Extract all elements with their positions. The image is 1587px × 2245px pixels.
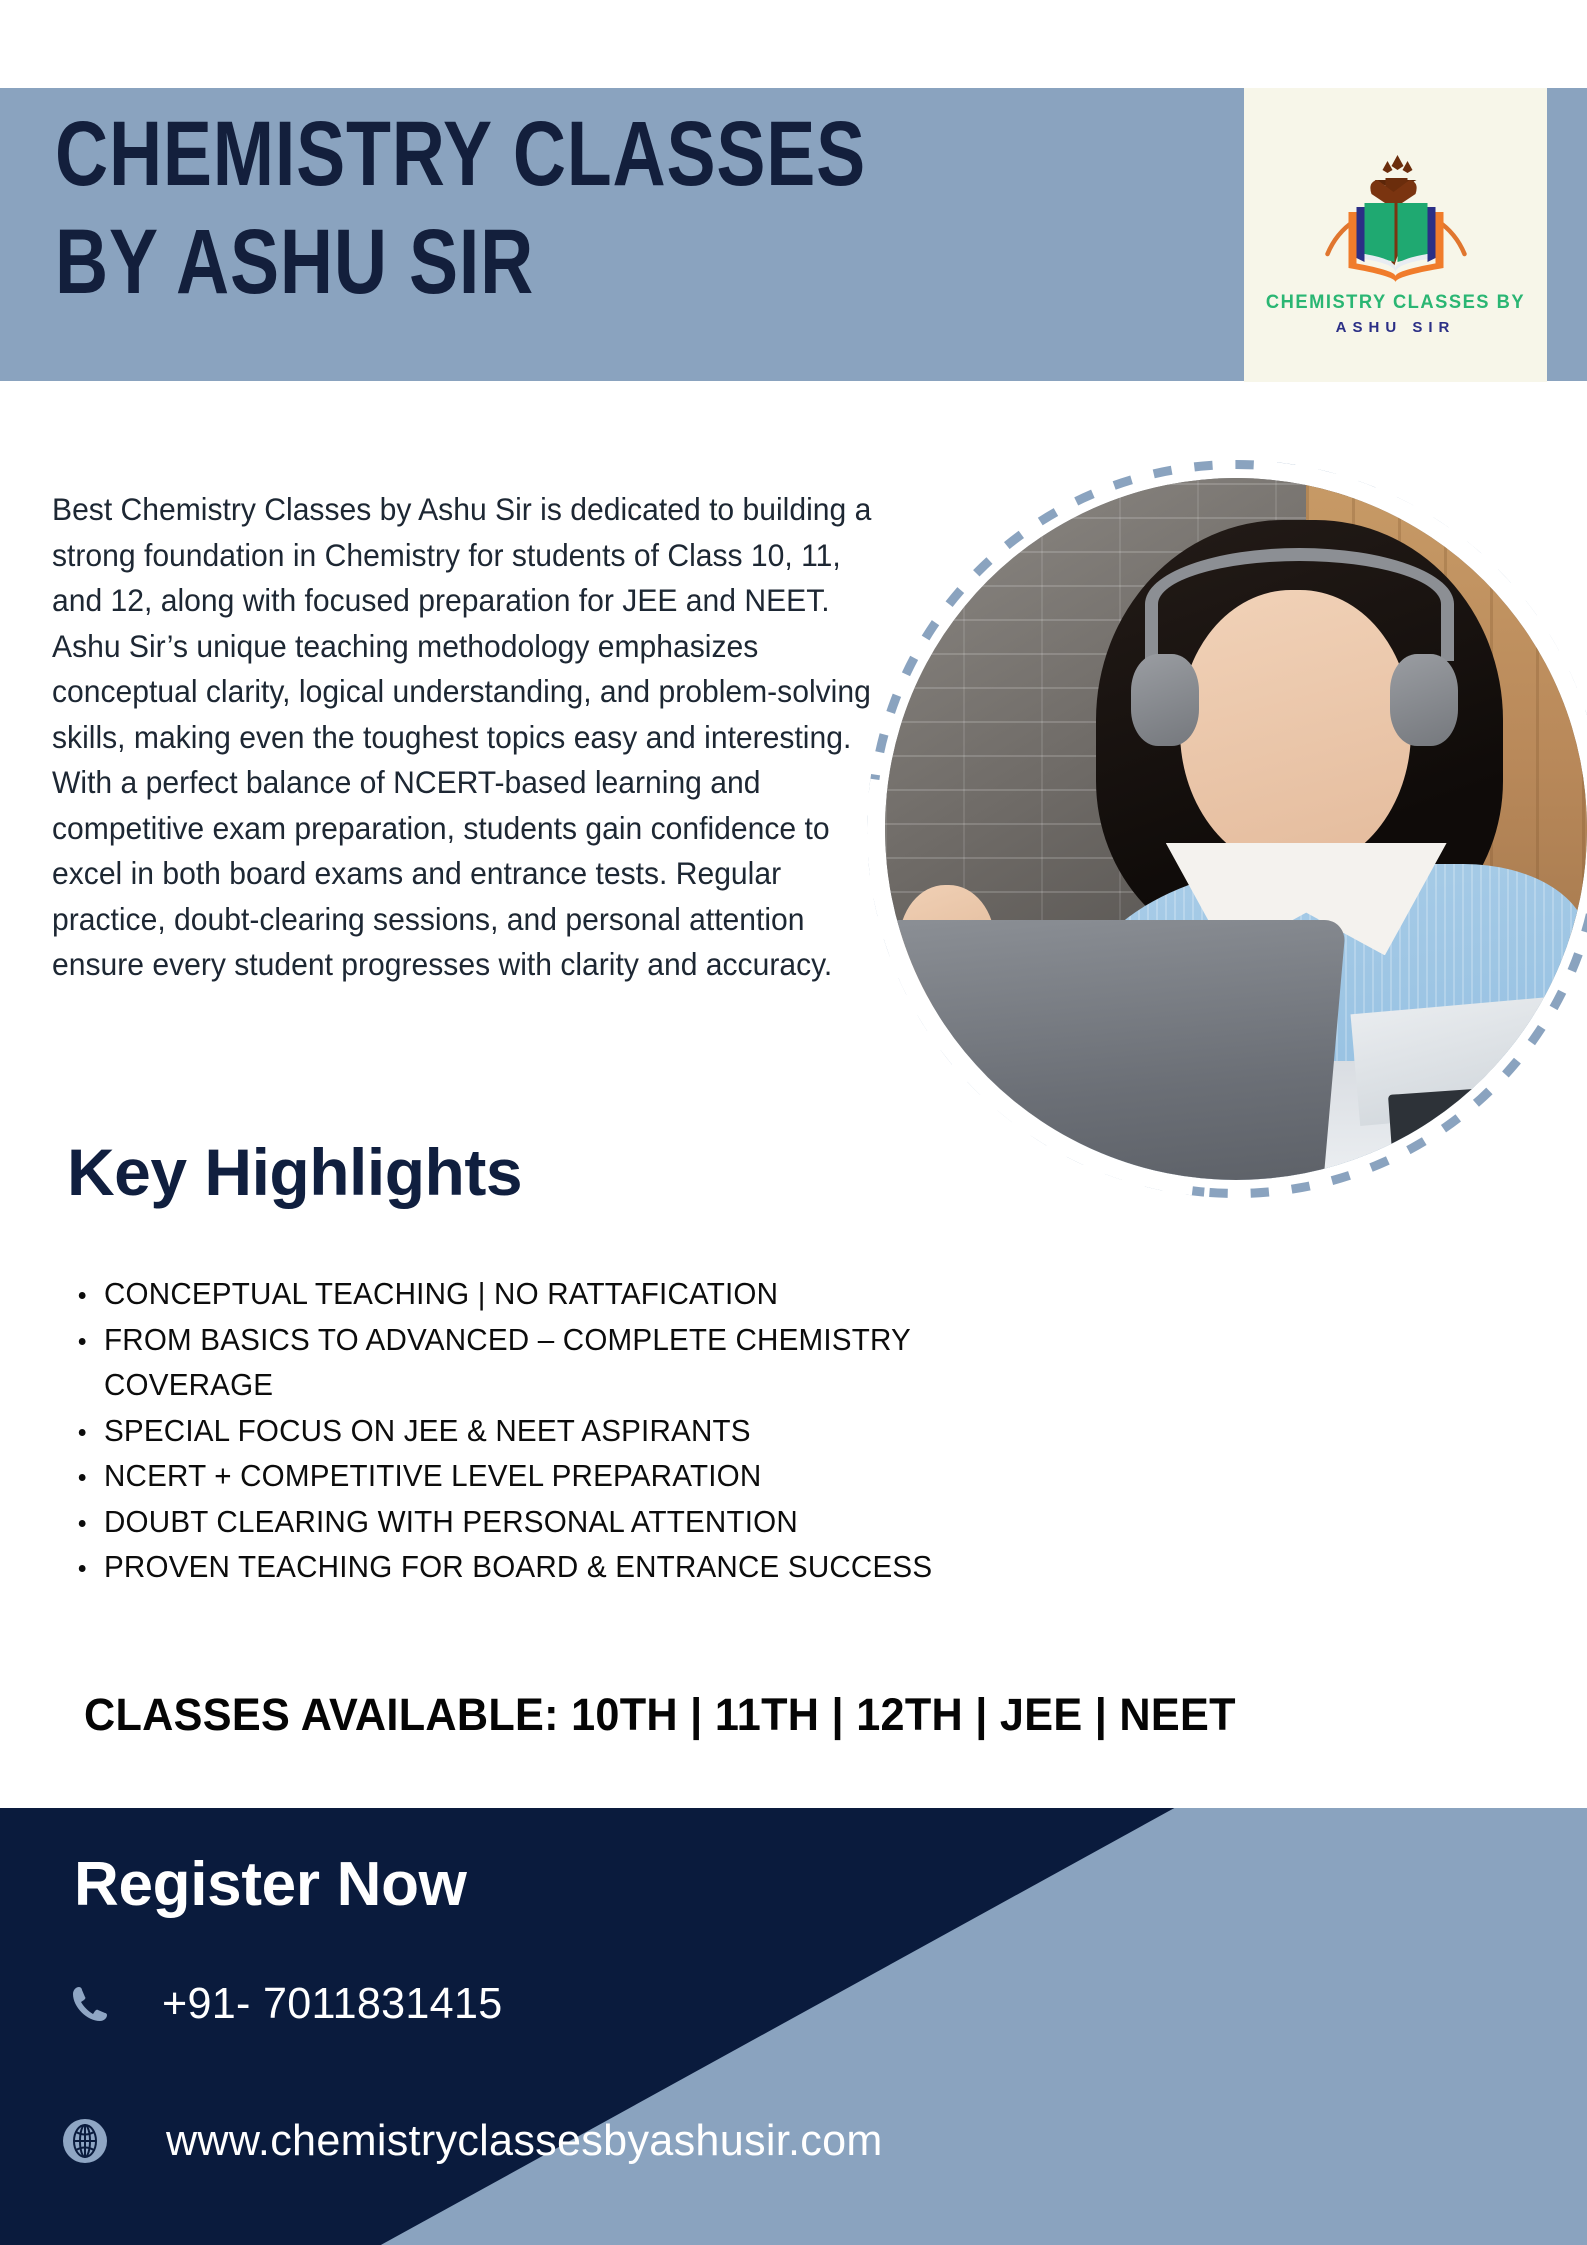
key-highlights-list: CONCEPTUAL TEACHING | NO RATTAFICATION F… [62,1272,1004,1591]
photo-laptop [885,920,1347,1180]
classes-available-line: CLASSES AVAILABLE: 10TH | 11TH | 12TH | … [84,1689,1236,1741]
brand-logo-card: CHEMISTRY CLASSES BY ASHU SIR [1244,88,1547,382]
list-item: FROM BASICS TO ADVANCED – COMPLETE CHEMI… [104,1318,977,1409]
list-item: DOUBT CLEARING WITH PERSONAL ATTENTION [104,1500,977,1546]
logo-caption: CHEMISTRY CLASSES BY [1253,291,1538,314]
poster-canvas: CHEMISTRY CLASSES BY ASHU SIR [0,0,1587,2245]
register-now-heading: Register Now [74,1848,467,1922]
student-photo [885,478,1587,1180]
photo-tablet [1388,1083,1560,1158]
key-highlights-heading: Key Highlights [67,1136,522,1208]
photo-headphone-cup-left [1131,654,1199,746]
globe-icon [56,2112,114,2170]
website-url: www.chemistryclassesbyashusir.com [166,2114,883,2168]
graduation-book-logo-icon [1303,136,1488,286]
phone-number: +91- 7011831415 [162,1977,503,2031]
photo-headphone-band [1145,548,1454,660]
title-line-1: CHEMISTRY CLASSES [55,100,935,208]
logo-subcaption: ASHU SIR [1244,319,1547,336]
list-item: NCERT + COMPETITIVE LEVEL PREPARATION [104,1454,977,1500]
website-contact-row[interactable]: www.chemistryclassesbyashusir.com [56,2112,897,2170]
phone-contact-row[interactable]: +91- 7011831415 [62,1975,509,2033]
title-line-2: BY ASHU SIR [55,208,935,316]
photo-headphone-cup-right [1390,654,1458,746]
list-item: SPECIAL FOCUS ON JEE & NEET ASPIRANTS [104,1409,977,1455]
list-item: CONCEPTUAL TEACHING | NO RATTAFICATION [104,1272,977,1318]
intro-paragraph: Best Chemistry Classes by Ashu Sir is de… [52,487,875,988]
phone-icon [62,1975,120,2033]
list-item: PROVEN TEACHING FOR BOARD & ENTRANCE SUC… [104,1545,977,1591]
poster-title: CHEMISTRY CLASSES BY ASHU SIR [55,100,1155,316]
student-photo-block [885,478,1587,1180]
